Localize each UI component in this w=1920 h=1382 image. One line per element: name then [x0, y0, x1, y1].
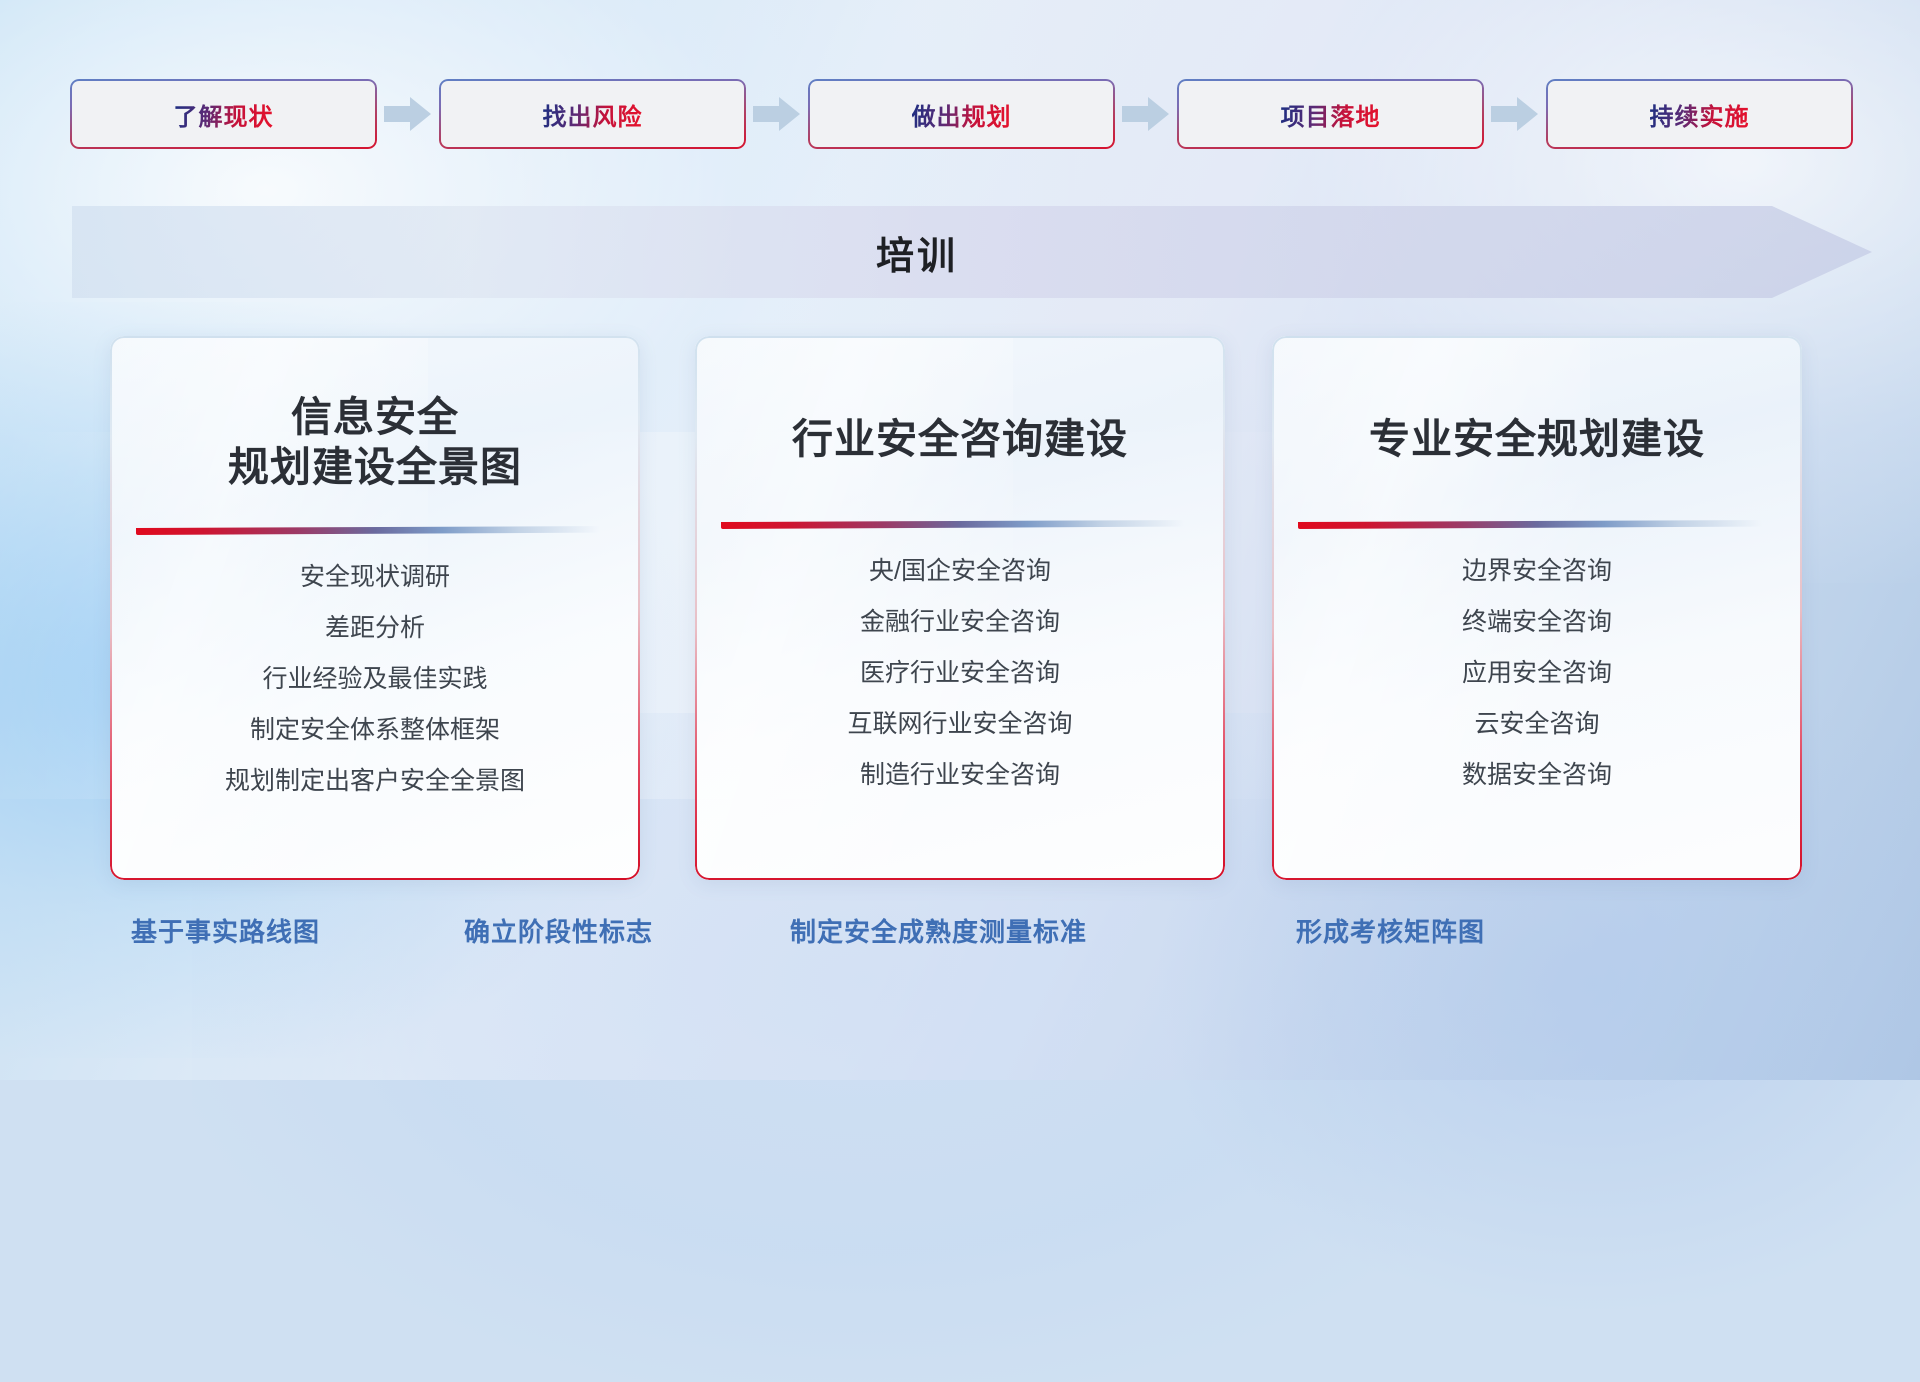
card-item-list: 边界安全咨询 终端安全咨询 应用安全咨询 云安全咨询 数据安全咨询 [1272, 559, 1802, 814]
card-title-line-2: 规划建设全景图 [110, 442, 640, 492]
list-item: 数据安全咨询 [1462, 763, 1612, 788]
card-title-line-1: 信息安全 [110, 392, 640, 442]
card-title: 信息安全 规划建设全景图 [110, 336, 640, 492]
step-label-2: 找出风险 [543, 97, 643, 132]
card-divider [721, 520, 1199, 529]
list-item: 制造行业安全咨询 [860, 763, 1060, 788]
step-separator-1 [377, 92, 439, 136]
list-item: 差距分析 [325, 616, 425, 641]
list-item: 医疗行业安全咨询 [860, 661, 1060, 686]
list-item: 互联网行业安全咨询 [847, 712, 1072, 737]
step-label-1: 了解现状 [174, 97, 274, 132]
step-box-4[interactable]: 项目落地 [1177, 79, 1484, 149]
card-information-security-panorama[interactable]: 信息安全 规划建设全景图 安全现状调研 差距分析 行业经验及最佳实践 制定安全体… [110, 336, 640, 880]
list-item: 安全现状调研 [300, 565, 450, 590]
card-divider [136, 526, 614, 535]
footer-label-4: 形成考核矩阵图 [1296, 912, 1485, 949]
step-box-2[interactable]: 找出风险 [439, 79, 746, 149]
slide-content: 了解现状 找出风险 做出规划 项目落地 [0, 0, 1920, 1080]
card-industry-security-consulting[interactable]: 行业安全咨询建设 央/国企安全咨询 金融行业安全咨询 医疗行业安全咨询 互联网行… [695, 336, 1225, 880]
banner-title: 培训 [72, 202, 1872, 302]
training-banner: 培训 [72, 202, 1872, 302]
footer-label-group: 基于事实路线图 确立阶段性标志 制定安全成熟度测量标准 形成考核矩阵图 [0, 912, 1920, 960]
step-separator-4 [1484, 92, 1546, 136]
list-item: 云安全咨询 [1474, 712, 1599, 737]
process-step-flow: 了解现状 找出风险 做出规划 项目落地 [70, 78, 1855, 150]
step-separator-3 [1115, 92, 1177, 136]
step-separator-2 [746, 92, 808, 136]
card-professional-security-planning[interactable]: 专业安全规划建设 边界安全咨询 终端安全咨询 应用安全咨询 云安全咨询 数据安全… [1272, 336, 1802, 880]
card-title-line-1: 专业安全规划建设 [1272, 414, 1802, 464]
list-item: 应用安全咨询 [1462, 661, 1612, 686]
card-title-line-1: 行业安全咨询建设 [695, 414, 1225, 464]
footer-label-1: 基于事实路线图 [131, 912, 320, 949]
step-label-4: 项目落地 [1281, 97, 1381, 132]
card-group: 信息安全 规划建设全景图 安全现状调研 差距分析 行业经验及最佳实践 制定安全体… [0, 336, 1920, 880]
list-item: 制定安全体系整体框架 [250, 718, 500, 743]
list-item: 终端安全咨询 [1462, 610, 1612, 635]
list-item: 金融行业安全咨询 [860, 610, 1060, 635]
list-item: 边界安全咨询 [1462, 559, 1612, 584]
step-box-5[interactable]: 持续实施 [1546, 79, 1853, 149]
footer-label-3: 制定安全成熟度测量标准 [790, 912, 1087, 949]
list-item: 规划制定出客户安全全景图 [225, 769, 525, 794]
card-title: 专业安全规划建设 [1272, 336, 1802, 464]
list-item: 行业经验及最佳实践 [262, 667, 487, 692]
step-label-5: 持续实施 [1650, 97, 1750, 132]
step-label-3: 做出规划 [912, 97, 1012, 132]
step-box-3[interactable]: 做出规划 [808, 79, 1115, 149]
card-item-list: 安全现状调研 差距分析 行业经验及最佳实践 制定安全体系整体框架 规划制定出客户… [110, 565, 640, 820]
footer-label-2: 确立阶段性标志 [464, 912, 653, 949]
card-divider [1298, 520, 1776, 529]
list-item: 央/国企安全咨询 [869, 559, 1051, 584]
card-title: 行业安全咨询建设 [695, 336, 1225, 464]
card-item-list: 央/国企安全咨询 金融行业安全咨询 医疗行业安全咨询 互联网行业安全咨询 制造行… [695, 559, 1225, 814]
step-box-1[interactable]: 了解现状 [70, 79, 377, 149]
